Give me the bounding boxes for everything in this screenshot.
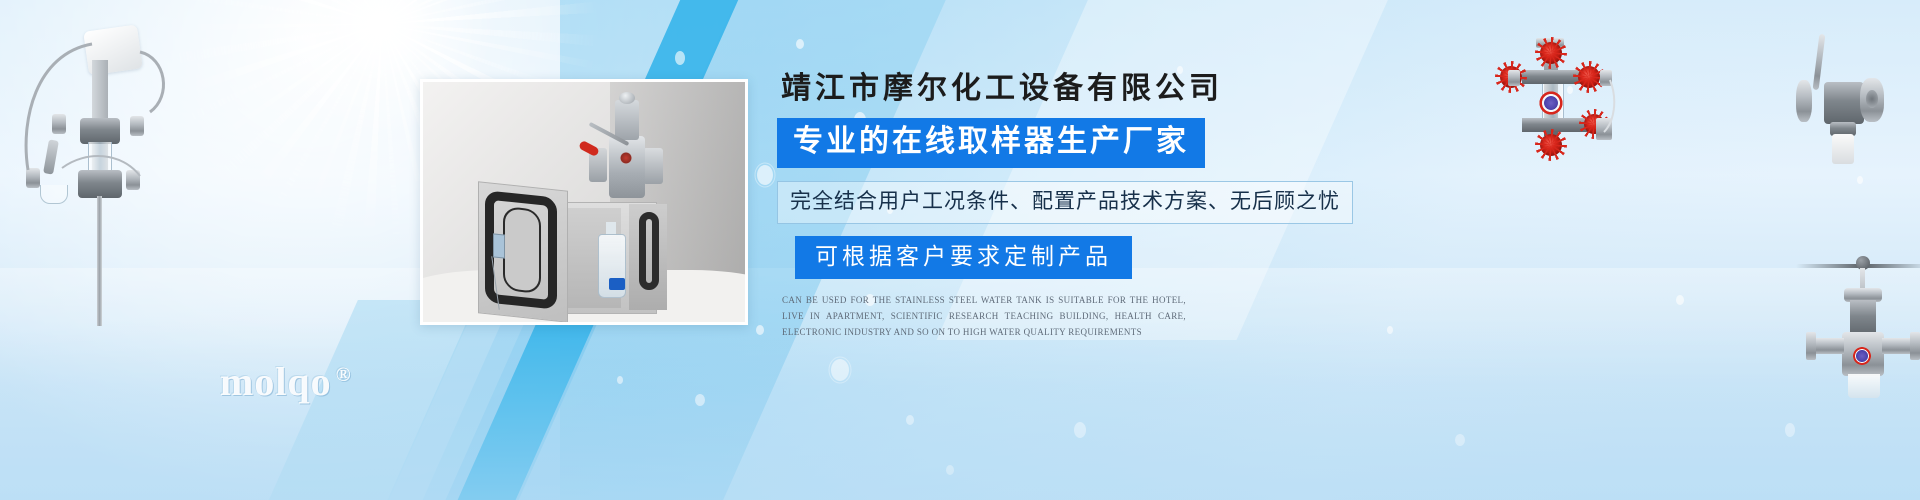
- sampler-tubing-icon: [0, 0, 200, 340]
- top-valve-cap: [619, 92, 635, 104]
- lever-valve-outlet-cup: [1832, 134, 1854, 164]
- valve-flange-outlet: [1910, 332, 1920, 360]
- right-lever-valve: [1786, 18, 1906, 178]
- lever-handle-icon: [1813, 34, 1826, 90]
- secondary-slogan-box: 完全结合用户工况条件、配置产品技术方案、无后顾之忧: [777, 181, 1353, 224]
- registered-trademark-icon: ®: [336, 364, 352, 386]
- valve-sample-cup: [1848, 374, 1880, 398]
- valve-flange-inlet: [1806, 332, 1816, 360]
- top-valve-stack: [615, 100, 639, 140]
- watermark-logo: molqo®: [220, 358, 352, 405]
- right-handwheel-valve: [1800, 228, 1920, 398]
- center-product-photo: [420, 79, 748, 325]
- valve-bonnet: [1850, 300, 1876, 336]
- valve-inlet-pipe: [1812, 338, 1844, 354]
- cabinet-door-window: [503, 206, 541, 294]
- sample-bottle-cap: [609, 278, 625, 290]
- top-valve-brand-badge-icon: [620, 152, 632, 164]
- lever-valve-flange-left: [1796, 80, 1812, 122]
- lever-valve-bore: [1866, 90, 1878, 108]
- tertiary-slogan-badge: 可根据客户要求定制产品: [795, 236, 1132, 279]
- right-cross-valve-assembly: [1492, 34, 1672, 164]
- top-valve-flange-right: [643, 148, 663, 184]
- photo-background: [423, 82, 745, 322]
- watermark-text: molqo: [220, 359, 332, 404]
- english-description: CAN BE USED FOR THE STAINLESS STEEL WATE…: [782, 293, 1186, 340]
- lever-valve-body: [1824, 82, 1864, 124]
- company-name: 靖江市摩尔化工设备有限公司: [781, 74, 1417, 104]
- cabinet-door-lock: [493, 233, 505, 258]
- left-product-sampler: [0, 0, 200, 360]
- primary-slogan-badge: 专业的在线取样器生产厂家: [777, 118, 1205, 168]
- cabinet-right-gasket: [639, 212, 659, 290]
- banner-copy: 靖江市摩尔化工设备有限公司 专业的在线取样器生产厂家 完全结合用户工况条件、配置…: [777, 74, 1417, 340]
- cabinet-top-valve: [589, 92, 663, 204]
- product-banner: 靖江市摩尔化工设备有限公司 专业的在线取样器生产厂家 完全结合用户工况条件、配置…: [0, 0, 1920, 500]
- valve-brand-seal-icon: [1852, 346, 1872, 366]
- cross-valve-tubing-icon: [1492, 34, 1672, 164]
- bottom-haze: [0, 320, 1920, 500]
